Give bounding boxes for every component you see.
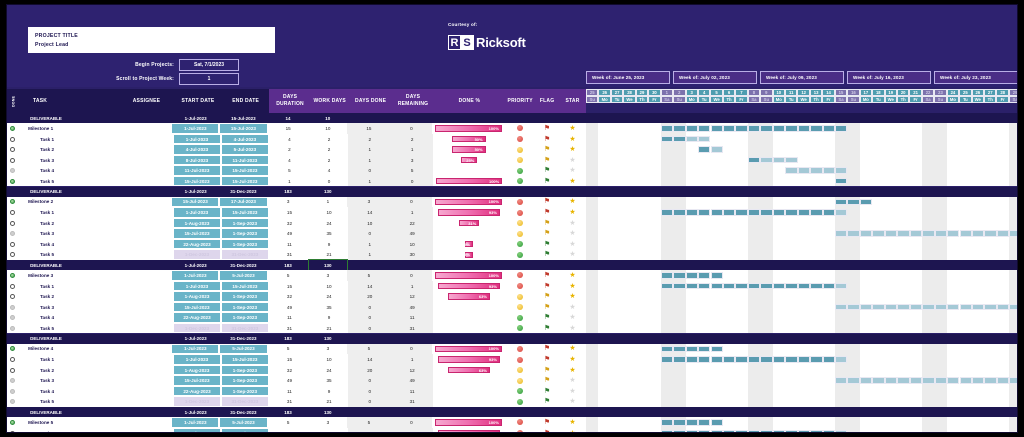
- star-icon[interactable]: ★: [569, 430, 575, 433]
- done-toggle-cell[interactable]: [7, 375, 18, 386]
- flag-icon[interactable]: ⚑: [544, 325, 550, 332]
- gantt-bar-segment[interactable]: [698, 419, 710, 426]
- done-circle-icon[interactable]: [10, 242, 15, 247]
- gantt-bar-segment[interactable]: [686, 346, 698, 353]
- priority-dot-icon[interactable]: [517, 231, 523, 237]
- end-date-cell[interactable]: 15-Jul-2023: [221, 165, 269, 176]
- col-header-done-pct[interactable]: DONE %: [434, 89, 505, 113]
- col-header-work-days[interactable]: WORK DAYS: [311, 89, 349, 113]
- task-name-cell[interactable]: Task 5: [18, 249, 118, 260]
- priority-dot-icon[interactable]: [517, 241, 523, 247]
- flag-cell[interactable]: ⚑: [535, 165, 559, 176]
- col-header-assignee[interactable]: ASSIGNEE: [119, 89, 175, 113]
- gantt-bar-segment[interactable]: [885, 304, 897, 311]
- task-name-cell[interactable]: Task 1: [18, 428, 118, 433]
- end-date-cell[interactable]: 1-Sep-2023: [221, 386, 269, 397]
- start-date-cell[interactable]: 15-Jul-2023: [173, 375, 221, 386]
- star-cell[interactable]: ★: [559, 323, 586, 334]
- days-done-cell[interactable]: 1: [348, 144, 392, 155]
- days-done-cell[interactable]: 1: [348, 176, 392, 187]
- flag-cell[interactable]: ⚑: [535, 386, 559, 397]
- gantt-bar-segment[interactable]: [835, 199, 847, 206]
- gantt-bar-segment[interactable]: [760, 283, 772, 290]
- priority-cell[interactable]: [505, 354, 535, 365]
- priority-cell[interactable]: [505, 239, 535, 250]
- gantt-bar-segment[interactable]: [897, 230, 909, 237]
- gantt-bar-segment[interactable]: [711, 146, 723, 153]
- star-cell[interactable]: ★: [559, 312, 586, 323]
- assignee-cell[interactable]: [118, 302, 173, 313]
- start-date-cell[interactable]: 1-Jul-2023: [173, 134, 221, 145]
- done-toggle-cell[interactable]: [7, 386, 18, 397]
- gantt-bar-segment[interactable]: [673, 272, 685, 279]
- flag-cell[interactable]: ⚑: [535, 302, 559, 313]
- done-toggle-cell[interactable]: [7, 165, 18, 176]
- gantt-bar-segment[interactable]: [698, 146, 710, 153]
- done-toggle-cell[interactable]: [7, 270, 18, 281]
- task-name-cell[interactable]: Task 3: [18, 302, 118, 313]
- gantt-bar-segment[interactable]: [785, 356, 797, 363]
- task-name-cell[interactable]: Task 1: [18, 134, 118, 145]
- gantt-bar-segment[interactable]: [947, 377, 959, 384]
- start-date-cell[interactable]: 1-Aug-2023: [173, 218, 221, 229]
- col-header-star[interactable]: STAR: [559, 89, 586, 113]
- gantt-bar-segment[interactable]: [910, 304, 922, 311]
- assignee-cell[interactable]: [118, 218, 173, 229]
- done-toggle-cell[interactable]: [7, 396, 18, 407]
- gantt-bar-segment[interactable]: [835, 178, 847, 185]
- table-row[interactable]: Milestone 41-Jul-20235-Jul-20235350100%⚑…: [7, 344, 586, 355]
- col-header-end-date[interactable]: END DATE: [222, 89, 270, 113]
- table-row[interactable]: Milestone 215-Jul-202317-Jul-20233130100…: [7, 197, 586, 208]
- priority-cell[interactable]: [505, 249, 535, 260]
- col-header-days-remaining[interactable]: DAYS REMAINING: [392, 89, 433, 113]
- days-done-cell[interactable]: 14: [348, 281, 392, 292]
- star-cell[interactable]: ★: [559, 218, 586, 229]
- gantt-bar-segment[interactable]: [860, 304, 872, 311]
- assignee-cell[interactable]: [118, 228, 173, 239]
- done-circle-icon[interactable]: [10, 346, 15, 351]
- task-name-cell[interactable]: Task 1: [18, 281, 118, 292]
- start-date-cell[interactable]: 8-Jul-2023: [173, 155, 221, 166]
- priority-dot-icon[interactable]: [517, 252, 523, 258]
- star-icon[interactable]: ★: [569, 136, 575, 143]
- done-circle-icon[interactable]: [10, 199, 15, 204]
- gantt-bar-segment[interactable]: [997, 377, 1009, 384]
- days-done-cell[interactable]: 14: [348, 354, 392, 365]
- gantt-bar-segment[interactable]: [922, 377, 934, 384]
- priority-cell[interactable]: [505, 375, 535, 386]
- start-date-cell[interactable]: 1-Jul-2023: [173, 207, 221, 218]
- priority-dot-icon[interactable]: [517, 325, 523, 331]
- star-icon[interactable]: ★: [569, 167, 575, 174]
- done-circle-icon[interactable]: [10, 168, 15, 173]
- done-toggle-cell[interactable]: [7, 428, 18, 433]
- start-date-cell[interactable]: 1-Aug-2023: [173, 365, 221, 376]
- done-circle-icon[interactable]: [10, 326, 15, 331]
- priority-cell[interactable]: [505, 197, 535, 208]
- gantt-bar-segment[interactable]: [984, 304, 996, 311]
- start-date-cell[interactable]: 15-Jul-2023: [173, 176, 221, 187]
- flag-cell[interactable]: ⚑: [535, 417, 559, 428]
- table-row[interactable]: Task 51-Dec-202331-Dec-20233121031⚑★: [7, 396, 586, 407]
- gantt-bar-segment[interactable]: [686, 430, 698, 433]
- days-done-cell[interactable]: 0: [348, 312, 392, 323]
- priority-cell[interactable]: [505, 428, 535, 433]
- task-name-cell[interactable]: Task 5: [18, 323, 118, 334]
- task-name-cell[interactable]: Task 5: [18, 396, 118, 407]
- gantt-bar-segment[interactable]: [673, 209, 685, 216]
- gantt-bar-segment[interactable]: [847, 199, 859, 206]
- star-icon[interactable]: ★: [569, 388, 575, 395]
- gantt-bar-segment[interactable]: [723, 209, 735, 216]
- assignee-cell[interactable]: [118, 386, 173, 397]
- gantt-bar-segment[interactable]: [661, 125, 673, 132]
- flag-cell[interactable]: ⚑: [535, 228, 559, 239]
- priority-dot-icon[interactable]: [517, 367, 523, 373]
- gantt-bar-segment[interactable]: [760, 157, 772, 164]
- flag-icon[interactable]: ⚑: [544, 136, 550, 143]
- flag-cell[interactable]: ⚑: [535, 176, 559, 187]
- done-circle-icon[interactable]: [10, 357, 15, 362]
- star-icon[interactable]: ★: [569, 230, 575, 237]
- done-circle-icon[interactable]: [10, 147, 15, 152]
- flag-cell[interactable]: ⚑: [535, 323, 559, 334]
- gantt-bar-segment[interactable]: [823, 430, 835, 433]
- project-title-box[interactable]: PROJECT TITLE Project Lead: [28, 27, 275, 53]
- end-date-cell[interactable]: 17-Jul-2023: [219, 197, 267, 208]
- star-icon[interactable]: ★: [569, 314, 575, 321]
- gantt-bar-segment[interactable]: [885, 230, 897, 237]
- priority-cell[interactable]: [505, 386, 535, 397]
- flag-cell[interactable]: ⚑: [535, 354, 559, 365]
- flag-cell[interactable]: ⚑: [535, 365, 559, 376]
- priority-dot-icon[interactable]: [517, 210, 523, 216]
- end-date-cell[interactable]: 5-Jul-2023: [219, 270, 267, 281]
- gantt-bar-segment[interactable]: [810, 167, 822, 174]
- gantt-bar-segment[interactable]: [686, 125, 698, 132]
- done-toggle-cell[interactable]: [7, 155, 18, 166]
- gantt-bar-segment[interactable]: [661, 356, 673, 363]
- gantt-bar-segment[interactable]: [798, 209, 810, 216]
- start-date-cell[interactable]: 1-Jul-2023: [171, 123, 219, 134]
- priority-dot-icon[interactable]: [517, 378, 523, 384]
- gantt-bar-segment[interactable]: [698, 136, 710, 143]
- star-cell[interactable]: ★: [559, 291, 586, 302]
- task-name-cell[interactable]: Milestone 1: [18, 123, 115, 134]
- days-done-cell[interactable]: 0: [348, 228, 392, 239]
- end-date-cell[interactable]: 15-Jul-2023: [221, 176, 269, 187]
- start-date-cell[interactable]: 1-Jul-2023: [173, 428, 221, 433]
- start-date-cell[interactable]: 1-Jul-2023: [171, 344, 219, 355]
- star-icon[interactable]: ★: [569, 157, 575, 164]
- gantt-bar-segment[interactable]: [823, 356, 835, 363]
- gantt-bar-segment[interactable]: [711, 430, 723, 433]
- priority-dot-icon[interactable]: [517, 178, 523, 184]
- gantt-bar-segment[interactable]: [785, 209, 797, 216]
- priority-cell[interactable]: [505, 312, 535, 323]
- days-done-cell[interactable]: 5: [347, 270, 391, 281]
- gantt-bar-segment[interactable]: [686, 419, 698, 426]
- star-cell[interactable]: ★: [559, 396, 586, 407]
- done-circle-icon[interactable]: [10, 221, 15, 226]
- flag-cell[interactable]: ⚑: [535, 281, 559, 292]
- star-cell[interactable]: ★: [559, 375, 586, 386]
- flag-icon[interactable]: ⚑: [544, 241, 550, 248]
- task-name-cell[interactable]: Milestone 2: [18, 197, 115, 208]
- priority-dot-icon[interactable]: [517, 315, 523, 321]
- task-name-cell[interactable]: Task 4: [18, 386, 118, 397]
- gantt-bar-segment[interactable]: [835, 356, 847, 363]
- task-name-cell[interactable]: Task 3: [18, 375, 118, 386]
- gantt-bar-segment[interactable]: [835, 377, 847, 384]
- deliverable-header-row[interactable]: DELIVERABLE1-Jul-202331-Dec-2023183130: [7, 407, 586, 417]
- flag-cell[interactable]: ⚑: [535, 207, 559, 218]
- assignee-cell[interactable]: [118, 375, 173, 386]
- star-cell[interactable]: ★: [559, 417, 586, 428]
- done-circle-icon[interactable]: [10, 378, 15, 383]
- gantt-bar-segment[interactable]: [798, 430, 810, 433]
- start-date-cell[interactable]: 1-Jul-2023: [171, 417, 219, 428]
- table-row[interactable]: Task 11-Jul-20234-Jul-2023422250%⚑★: [7, 134, 586, 145]
- gantt-bar-segment[interactable]: [748, 125, 760, 132]
- flag-icon[interactable]: ⚑: [544, 167, 550, 174]
- priority-dot-icon[interactable]: [517, 168, 523, 174]
- done-toggle-cell[interactable]: [7, 302, 18, 313]
- end-date-cell[interactable]: 15-Jul-2023: [221, 354, 269, 365]
- priority-cell[interactable]: [505, 291, 535, 302]
- gantt-bar-segment[interactable]: [860, 230, 872, 237]
- gantt-bar-segment[interactable]: [735, 209, 747, 216]
- gantt-bar-segment[interactable]: [661, 346, 673, 353]
- end-date-cell[interactable]: 31-Dec-2023: [221, 249, 269, 260]
- days-done-cell[interactable]: 1: [348, 155, 392, 166]
- end-date-cell[interactable]: 1-Sep-2023: [221, 302, 269, 313]
- flag-cell[interactable]: ⚑: [535, 239, 559, 250]
- done-toggle-cell[interactable]: [7, 197, 18, 208]
- gantt-bar-segment[interactable]: [872, 230, 884, 237]
- days-done-cell[interactable]: 3: [347, 197, 391, 208]
- gantt-bar-segment[interactable]: [773, 430, 785, 433]
- days-done-cell[interactable]: 2: [348, 134, 392, 145]
- end-date-cell[interactable]: 15-Jul-2023: [219, 123, 267, 134]
- task-name-cell[interactable]: Task 3: [18, 228, 118, 239]
- flag-cell[interactable]: ⚑: [535, 312, 559, 323]
- assignee-cell[interactable]: [118, 155, 173, 166]
- gantt-bar-segment[interactable]: [723, 356, 735, 363]
- gantt-bar-segment[interactable]: [823, 283, 835, 290]
- priority-cell[interactable]: [505, 155, 535, 166]
- table-row[interactable]: Task 411-Jul-202315-Jul-20235405⚑★: [7, 165, 586, 176]
- table-row[interactable]: Milestone 51-Jul-20235-Jul-20235350100%⚑…: [7, 417, 586, 428]
- done-toggle-cell[interactable]: [7, 323, 18, 334]
- priority-dot-icon[interactable]: [517, 136, 523, 142]
- table-row[interactable]: Task 51-Dec-202331-Dec-202331211303%⚑★: [7, 249, 586, 260]
- gantt-bar-segment[interactable]: [847, 377, 859, 384]
- gantt-bar-segment[interactable]: [760, 209, 772, 216]
- done-circle-icon[interactable]: [10, 431, 15, 433]
- gantt-bar-segment[interactable]: [711, 125, 723, 132]
- table-row[interactable]: Task 38-Jul-202311-Jul-2023421325%⚑★: [7, 155, 586, 166]
- done-circle-icon[interactable]: [10, 399, 15, 404]
- done-circle-icon[interactable]: [10, 210, 15, 215]
- flag-cell[interactable]: ⚑: [535, 396, 559, 407]
- star-icon[interactable]: ★: [569, 241, 575, 248]
- table-row[interactable]: Task 11-Jul-202315-Jul-2023151014193%⚑★: [7, 428, 586, 433]
- gantt-bar-segment[interactable]: [835, 230, 847, 237]
- assignee-cell[interactable]: [118, 239, 173, 250]
- gantt-bar-segment[interactable]: [960, 304, 972, 311]
- gantt-bar-segment[interactable]: [711, 272, 723, 279]
- priority-cell[interactable]: [505, 344, 535, 355]
- gantt-bar-segment[interactable]: [910, 230, 922, 237]
- gantt-bar-segment[interactable]: [972, 377, 984, 384]
- gantt-bar-segment[interactable]: [798, 283, 810, 290]
- table-row[interactable]: Task 21-Aug-20231-Sep-20233224102231%⚑★: [7, 218, 586, 229]
- gantt-bar-segment[interactable]: [785, 283, 797, 290]
- col-header-days-done[interactable]: DAYS DONE: [349, 89, 393, 113]
- table-row[interactable]: Task 422-Aug-20231-Sep-2023119011⚑★: [7, 386, 586, 397]
- flag-icon[interactable]: ⚑: [544, 314, 550, 321]
- flag-cell[interactable]: ⚑: [535, 249, 559, 260]
- assignee-cell[interactable]: [118, 134, 173, 145]
- gantt-bar-segment[interactable]: [735, 283, 747, 290]
- star-cell[interactable]: ★: [559, 386, 586, 397]
- table-row[interactable]: Task 422-Aug-20231-Sep-2023119011⚑★: [7, 312, 586, 323]
- gantt-bar-segment[interactable]: [922, 304, 934, 311]
- gantt-bar-segment[interactable]: [686, 283, 698, 290]
- gantt-bar-segment[interactable]: [748, 209, 760, 216]
- flag-icon[interactable]: ⚑: [544, 367, 550, 374]
- gantt-bar-segment[interactable]: [711, 209, 723, 216]
- gantt-bar-segment[interactable]: [711, 356, 723, 363]
- flag-cell[interactable]: ⚑: [535, 123, 559, 134]
- star-icon[interactable]: ★: [569, 125, 575, 132]
- star-cell[interactable]: ★: [559, 354, 586, 365]
- gantt-bar-segment[interactable]: [661, 430, 673, 433]
- star-icon[interactable]: ★: [569, 293, 575, 300]
- deliverable-header-row[interactable]: DELIVERABLE1-Jul-202331-Dec-2023183130: [7, 260, 586, 270]
- flag-cell[interactable]: ⚑: [535, 375, 559, 386]
- priority-cell[interactable]: [505, 228, 535, 239]
- flag-icon[interactable]: ⚑: [544, 272, 550, 279]
- table-row[interactable]: Task 24-Jul-20235-Jul-2023221150%⚑★: [7, 144, 586, 155]
- done-toggle-cell[interactable]: [7, 312, 18, 323]
- gantt-bar-segment[interactable]: [1009, 230, 1018, 237]
- end-date-cell[interactable]: 15-Jul-2023: [221, 281, 269, 292]
- days-done-cell[interactable]: 20: [348, 365, 392, 376]
- end-date-cell[interactable]: 5-Jul-2023: [219, 417, 267, 428]
- star-cell[interactable]: ★: [559, 144, 586, 155]
- done-circle-icon[interactable]: [10, 179, 15, 184]
- assignee-cell[interactable]: [116, 270, 172, 281]
- gantt-bar-segment[interactable]: [947, 230, 959, 237]
- done-toggle-cell[interactable]: [7, 344, 18, 355]
- done-toggle-cell[interactable]: [7, 144, 18, 155]
- done-toggle-cell[interactable]: [7, 249, 18, 260]
- gantt-bar-segment[interactable]: [897, 304, 909, 311]
- gantt-bar-segment[interactable]: [686, 272, 698, 279]
- star-cell[interactable]: ★: [559, 428, 586, 433]
- star-icon[interactable]: ★: [569, 356, 575, 363]
- gantt-bar-segment[interactable]: [735, 356, 747, 363]
- start-date-cell[interactable]: 1-Dec-2023: [173, 249, 221, 260]
- gantt-bar-segment[interactable]: [723, 283, 735, 290]
- end-date-cell[interactable]: 1-Sep-2023: [221, 218, 269, 229]
- end-date-cell[interactable]: 31-Dec-2023: [221, 396, 269, 407]
- start-date-cell[interactable]: 22-Aug-2023: [173, 239, 221, 250]
- assignee-cell[interactable]: [118, 354, 173, 365]
- priority-cell[interactable]: [505, 417, 535, 428]
- gantt-bar-segment[interactable]: [823, 209, 835, 216]
- end-date-cell[interactable]: 5-Jul-2023: [221, 144, 269, 155]
- star-icon[interactable]: ★: [569, 398, 575, 405]
- done-toggle-cell[interactable]: [7, 354, 18, 365]
- flag-cell[interactable]: ⚑: [535, 291, 559, 302]
- gantt-bar-segment[interactable]: [661, 272, 673, 279]
- done-circle-icon[interactable]: [10, 252, 15, 257]
- flag-icon[interactable]: ⚑: [544, 157, 550, 164]
- task-name-cell[interactable]: Task 2: [18, 291, 118, 302]
- task-name-cell[interactable]: Milestone 3: [18, 270, 115, 281]
- begin-project-input[interactable]: Sat, 7/1/2023: [179, 59, 239, 71]
- assignee-cell[interactable]: [116, 417, 172, 428]
- table-row[interactable]: Task 11-Jul-202315-Jul-2023151014193%⚑★: [7, 281, 586, 292]
- gantt-bar-segment[interactable]: [785, 157, 797, 164]
- assignee-cell[interactable]: [118, 176, 173, 187]
- assignee-cell[interactable]: [118, 365, 173, 376]
- col-header-start-date[interactable]: START DATE: [174, 89, 222, 113]
- done-circle-icon[interactable]: [10, 231, 15, 236]
- start-date-cell[interactable]: 15-Jul-2023: [173, 302, 221, 313]
- assignee-cell[interactable]: [116, 344, 172, 355]
- star-icon[interactable]: ★: [569, 345, 575, 352]
- task-name-cell[interactable]: Task 2: [18, 218, 118, 229]
- task-name-cell[interactable]: Task 3: [18, 155, 118, 166]
- done-toggle-cell[interactable]: [7, 176, 18, 187]
- deliverable-header-row[interactable]: DELIVERABLE1-Jul-202331-Dec-2023183130: [7, 187, 586, 197]
- gantt-bar-segment[interactable]: [847, 304, 859, 311]
- gantt-bar-segment[interactable]: [760, 125, 772, 132]
- gantt-bar-segment[interactable]: [785, 167, 797, 174]
- task-name-cell[interactable]: Task 2: [18, 365, 118, 376]
- gantt-bar-segment[interactable]: [723, 125, 735, 132]
- gantt-bar-segment[interactable]: [847, 230, 859, 237]
- star-cell[interactable]: ★: [559, 281, 586, 292]
- deliverable-header-row[interactable]: DELIVERABLE1-Jul-202331-Dec-2023183130: [7, 334, 586, 344]
- days-done-cell[interactable]: 5: [347, 344, 391, 355]
- priority-cell[interactable]: [505, 207, 535, 218]
- flag-icon[interactable]: ⚑: [544, 178, 550, 185]
- table-row[interactable]: Task 315-Jul-20231-Sep-20234935049⚑★: [7, 375, 586, 386]
- table-row[interactable]: Task 21-Aug-20231-Sep-20233224201263%⚑★: [7, 365, 586, 376]
- table-row[interactable]: Task 11-Jul-202315-Jul-2023151014193%⚑★: [7, 354, 586, 365]
- gantt-bar-segment[interactable]: [686, 356, 698, 363]
- gantt-bar-segment[interactable]: [698, 209, 710, 216]
- gantt-bar-segment[interactable]: [835, 430, 847, 433]
- gantt-bar-segment[interactable]: [686, 209, 698, 216]
- gantt-bar-segment[interactable]: [661, 209, 673, 216]
- done-circle-icon[interactable]: [10, 273, 15, 278]
- priority-cell[interactable]: [505, 365, 535, 376]
- gantt-bar-segment[interactable]: [823, 125, 835, 132]
- priority-cell[interactable]: [505, 218, 535, 229]
- start-date-cell[interactable]: 22-Aug-2023: [173, 386, 221, 397]
- gantt-bar-segment[interactable]: [686, 136, 698, 143]
- flag-icon[interactable]: ⚑: [544, 377, 550, 384]
- gantt-bar-segment[interactable]: [835, 125, 847, 132]
- star-icon[interactable]: ★: [569, 304, 575, 311]
